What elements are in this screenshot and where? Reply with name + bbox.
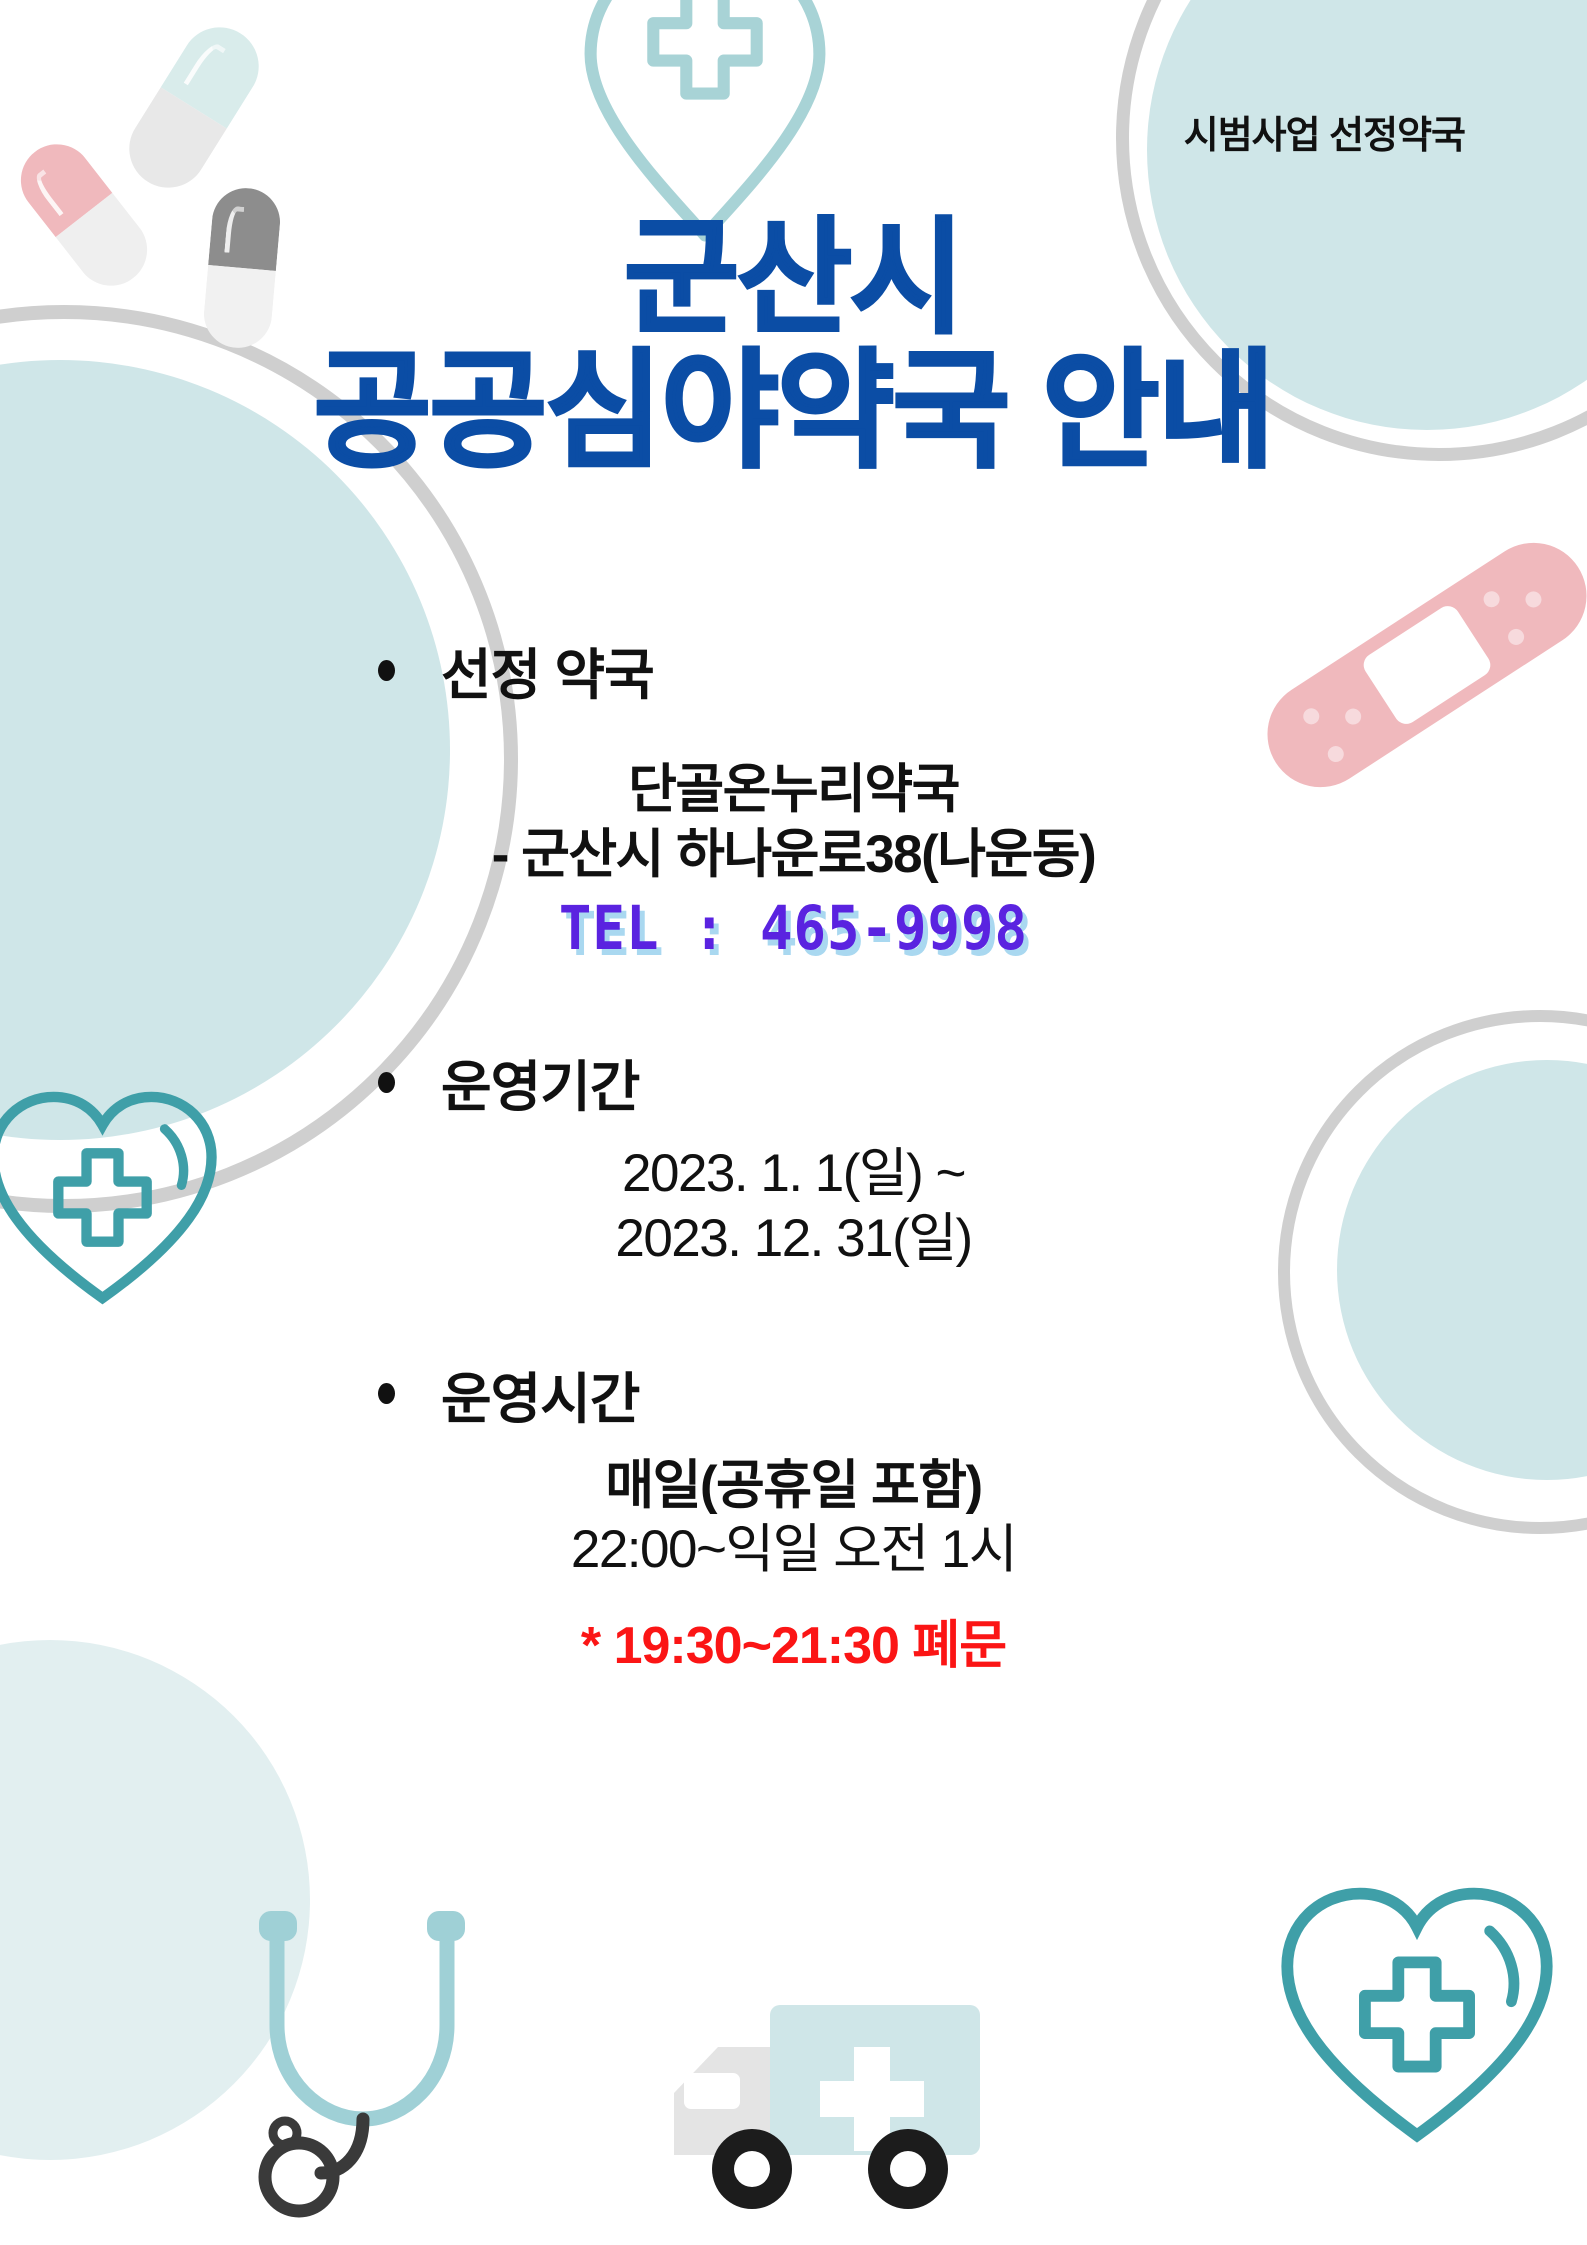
heart-cross-right-icon xyxy=(1267,1870,1567,2155)
operating-hours-time: 22:00~익일 오전 1시 xyxy=(0,1518,1587,1583)
operating-period-start: 2023. 1. 1(일) ~ xyxy=(0,1142,1587,1207)
poster-canvas: 시범사업 선정약국 군산시 공공심야약국 안내 선정 약국 단골온누리약국 - … xyxy=(0,0,1587,2245)
title-line-subject: 공공심야약국 안내 xyxy=(0,347,1587,478)
section-operating-period: 운영기간 2023. 1. 1(일) ~ 2023. 12. 31(일) xyxy=(0,1042,1587,1271)
operating-hours-days: 매일(공휴일 포함) xyxy=(0,1454,1587,1519)
bullet-dot-icon xyxy=(378,660,395,681)
section-operating-hours: 운영시간 매일(공휴일 포함) 22:00~익일 오전 1시 * 19:30~2… xyxy=(0,1354,1587,1678)
closed-hours-note: * 19:30~21:30 폐문 xyxy=(0,1603,1587,1678)
poster-body: 선정 약국 단골온누리약국 - 군산시 하나운로38(나운동) TEL : 46… xyxy=(0,630,1587,1686)
bullet-row-operating-hours: 운영시간 xyxy=(0,1354,1587,1434)
page-title: 군산시 공공심야약국 안내 xyxy=(0,215,1587,477)
bullet-label-selected-pharmacy: 선정 약국 xyxy=(441,630,654,710)
pharmacy-name: 단골온누리약국 xyxy=(0,758,1587,823)
operating-period-end: 2023. 12. 31(일) xyxy=(0,1207,1587,1272)
bullet-dot-icon xyxy=(378,1072,395,1093)
bullet-dot-icon xyxy=(378,1383,395,1404)
pill-teal-icon xyxy=(115,13,274,203)
title-line-city: 군산시 xyxy=(0,215,1587,343)
bullet-label-operating-hours: 운영시간 xyxy=(441,1354,639,1434)
stethoscope-icon xyxy=(225,1905,485,2235)
bullet-row-operating-period: 운영기간 xyxy=(0,1042,1587,1122)
section-selected-pharmacy: 선정 약국 단골온누리약국 - 군산시 하나운로38(나운동) TEL : 46… xyxy=(0,630,1587,960)
pharmacy-telephone: TEL : 465-9998 xyxy=(0,894,1587,965)
bullet-row-selected-pharmacy: 선정 약국 xyxy=(0,630,1587,710)
pilot-program-badge: 시범사업 선정약국 xyxy=(1184,104,1465,159)
pharmacy-address: - 군산시 하나운로38(나운동) xyxy=(0,823,1587,888)
circle-pale-bottom-left xyxy=(0,1640,310,2160)
bullet-label-operating-period: 운영기간 xyxy=(441,1042,639,1122)
ambulance-icon xyxy=(640,1955,1000,2225)
